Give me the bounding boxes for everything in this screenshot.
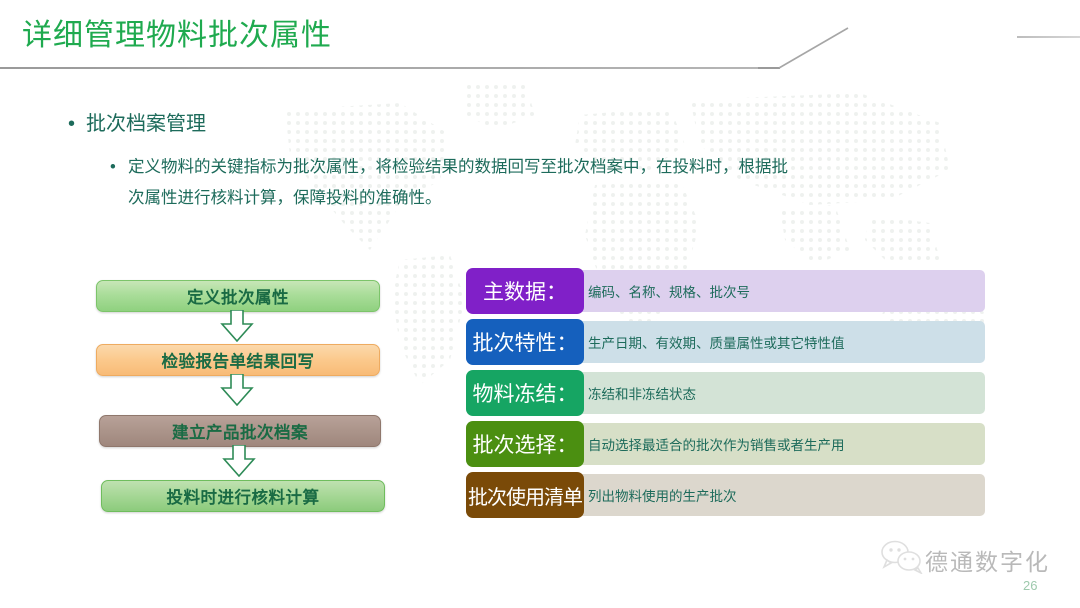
bullet-level2-line1: 定义物料的关键指标为批次属性，将检验结果的数据回写至批次档案中，在投料时，根据批 [128,152,940,183]
attribute-label-1[interactable]: 主数据： [466,268,584,314]
bullet-marker-level1: • [68,113,86,136]
bullet-level2-line2: 次属性进行核料计算，保障投料的准确性。 [128,183,940,214]
slide-canvas: 详细管理物料批次属性 •批次档案管理 • 定义物料的关键指标为批次属性，将检验结… [0,0,1080,608]
attribute-label-3[interactable]: 物料冻结： [466,370,584,416]
header-right-accent-line [1017,36,1080,38]
attribute-content-5: 列出物料使用的生产批次 [570,485,737,505]
attribute-content-4: 自动选择最适合的批次作为销售或者生产用 [570,434,845,454]
flow-arrow-1 [219,310,255,342]
attribute-content-1: 编码、名称、规格、批次号 [570,281,750,301]
page-title: 详细管理物料批次属性 [22,10,332,54]
attribute-content-3: 冻结和非冻结状态 [570,383,696,403]
bullet-level1: •批次档案管理 [68,107,206,136]
page-number: 26 [1023,578,1037,593]
attribute-label-5[interactable]: 批次使用清单 [466,472,584,518]
bullet-level2: • 定义物料的关键指标为批次属性，将检验结果的数据回写至批次档案中，在投料时，根… [110,152,940,214]
header-diagonal-accent [758,27,850,69]
attribute-content-2: 生产日期、有效期、质量属性或其它特性值 [570,332,845,352]
attribute-content-bar-1: • 编码、名称、规格、批次号 [570,270,985,312]
wechat-icon [880,540,924,574]
attribute-content-bar-5: • 列出物料使用的生产批次 [570,474,985,516]
flow-step-3[interactable]: 建立产品批次档案 [99,415,381,447]
flow-arrow-3 [221,445,257,477]
flow-arrow-2 [219,374,255,406]
bullet-marker-level2: • [110,152,116,183]
flow-step-2[interactable]: 检验报告单结果回写 [96,344,380,376]
bullet-level1-label: 批次档案管理 [86,113,206,135]
flow-step-1[interactable]: 定义批次属性 [96,280,380,312]
attribute-content-bar-4: • 自动选择最适合的批次作为销售或者生产用 [570,423,985,465]
attribute-label-4[interactable]: 批次选择： [466,421,584,467]
flow-step-4[interactable]: 投料时进行核料计算 [101,480,385,512]
attribute-content-bar-2: • 生产日期、有效期、质量属性或其它特性值 [570,321,985,363]
attribute-label-2[interactable]: 批次特性： [466,319,584,365]
attribute-content-bar-3: • 冻结和非冻结状态 [570,372,985,414]
header-divider [0,67,760,69]
brand-name: 德通数字化 [925,543,1050,577]
